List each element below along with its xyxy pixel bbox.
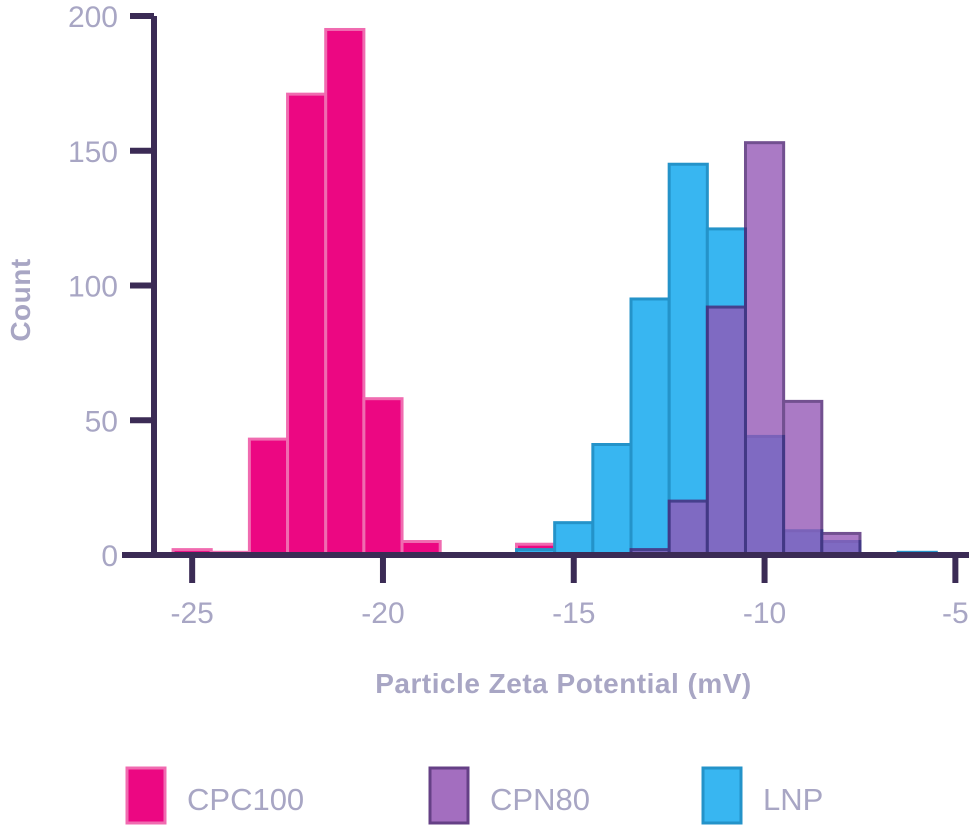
y-tick-label-50: 50 xyxy=(85,405,118,438)
bar-cpn80-3 xyxy=(745,143,783,555)
chart-svg: 050100150200-25-20-15-10-5Particle Zeta … xyxy=(0,0,978,835)
zeta-potential-histogram: 050100150200-25-20-15-10-5Particle Zeta … xyxy=(0,0,978,835)
bar-cpc100-2 xyxy=(249,439,287,555)
legend-label-cpn80: CPN80 xyxy=(490,782,590,817)
bar-cpn80-4 xyxy=(784,401,822,555)
bar-cpc100-3 xyxy=(288,94,326,555)
x-tick-label--15: -15 xyxy=(552,597,595,630)
bar-cpn80-1 xyxy=(669,501,707,555)
legend-swatch-lnp xyxy=(703,768,741,823)
y-axis-title: Count xyxy=(5,258,36,341)
x-axis-title: Particle Zeta Potential (mV) xyxy=(375,668,752,699)
legend-label-lnp: LNP xyxy=(763,782,823,817)
x-tick-label--5: -5 xyxy=(942,597,969,630)
x-tick-label--10: -10 xyxy=(743,597,786,630)
x-tick-label--25: -25 xyxy=(170,597,213,630)
legend-label-cpc100: CPC100 xyxy=(187,782,304,817)
bar-lnp-4 xyxy=(669,164,707,555)
legend-swatch-cpn80 xyxy=(430,768,468,823)
bar-cpc100-5 xyxy=(364,399,402,555)
bar-lnp-3 xyxy=(631,299,669,555)
x-tick-label--20: -20 xyxy=(361,597,404,630)
bar-cpn80-5 xyxy=(822,533,860,555)
legend: CPC100CPN80LNP xyxy=(127,768,823,823)
y-tick-label-0: 0 xyxy=(101,540,118,573)
y-tick-label-100: 100 xyxy=(68,271,118,304)
y-tick-label-200: 200 xyxy=(68,1,118,34)
bar-lnp-2 xyxy=(593,445,631,556)
bar-cpn80-2 xyxy=(707,307,745,555)
bars-group xyxy=(173,29,936,555)
legend-swatch-cpc100 xyxy=(127,768,165,823)
bar-lnp-1 xyxy=(555,523,593,555)
bar-cpc100-4 xyxy=(326,29,364,555)
y-tick-label-150: 150 xyxy=(68,136,118,169)
series-cpc100 xyxy=(173,29,593,555)
